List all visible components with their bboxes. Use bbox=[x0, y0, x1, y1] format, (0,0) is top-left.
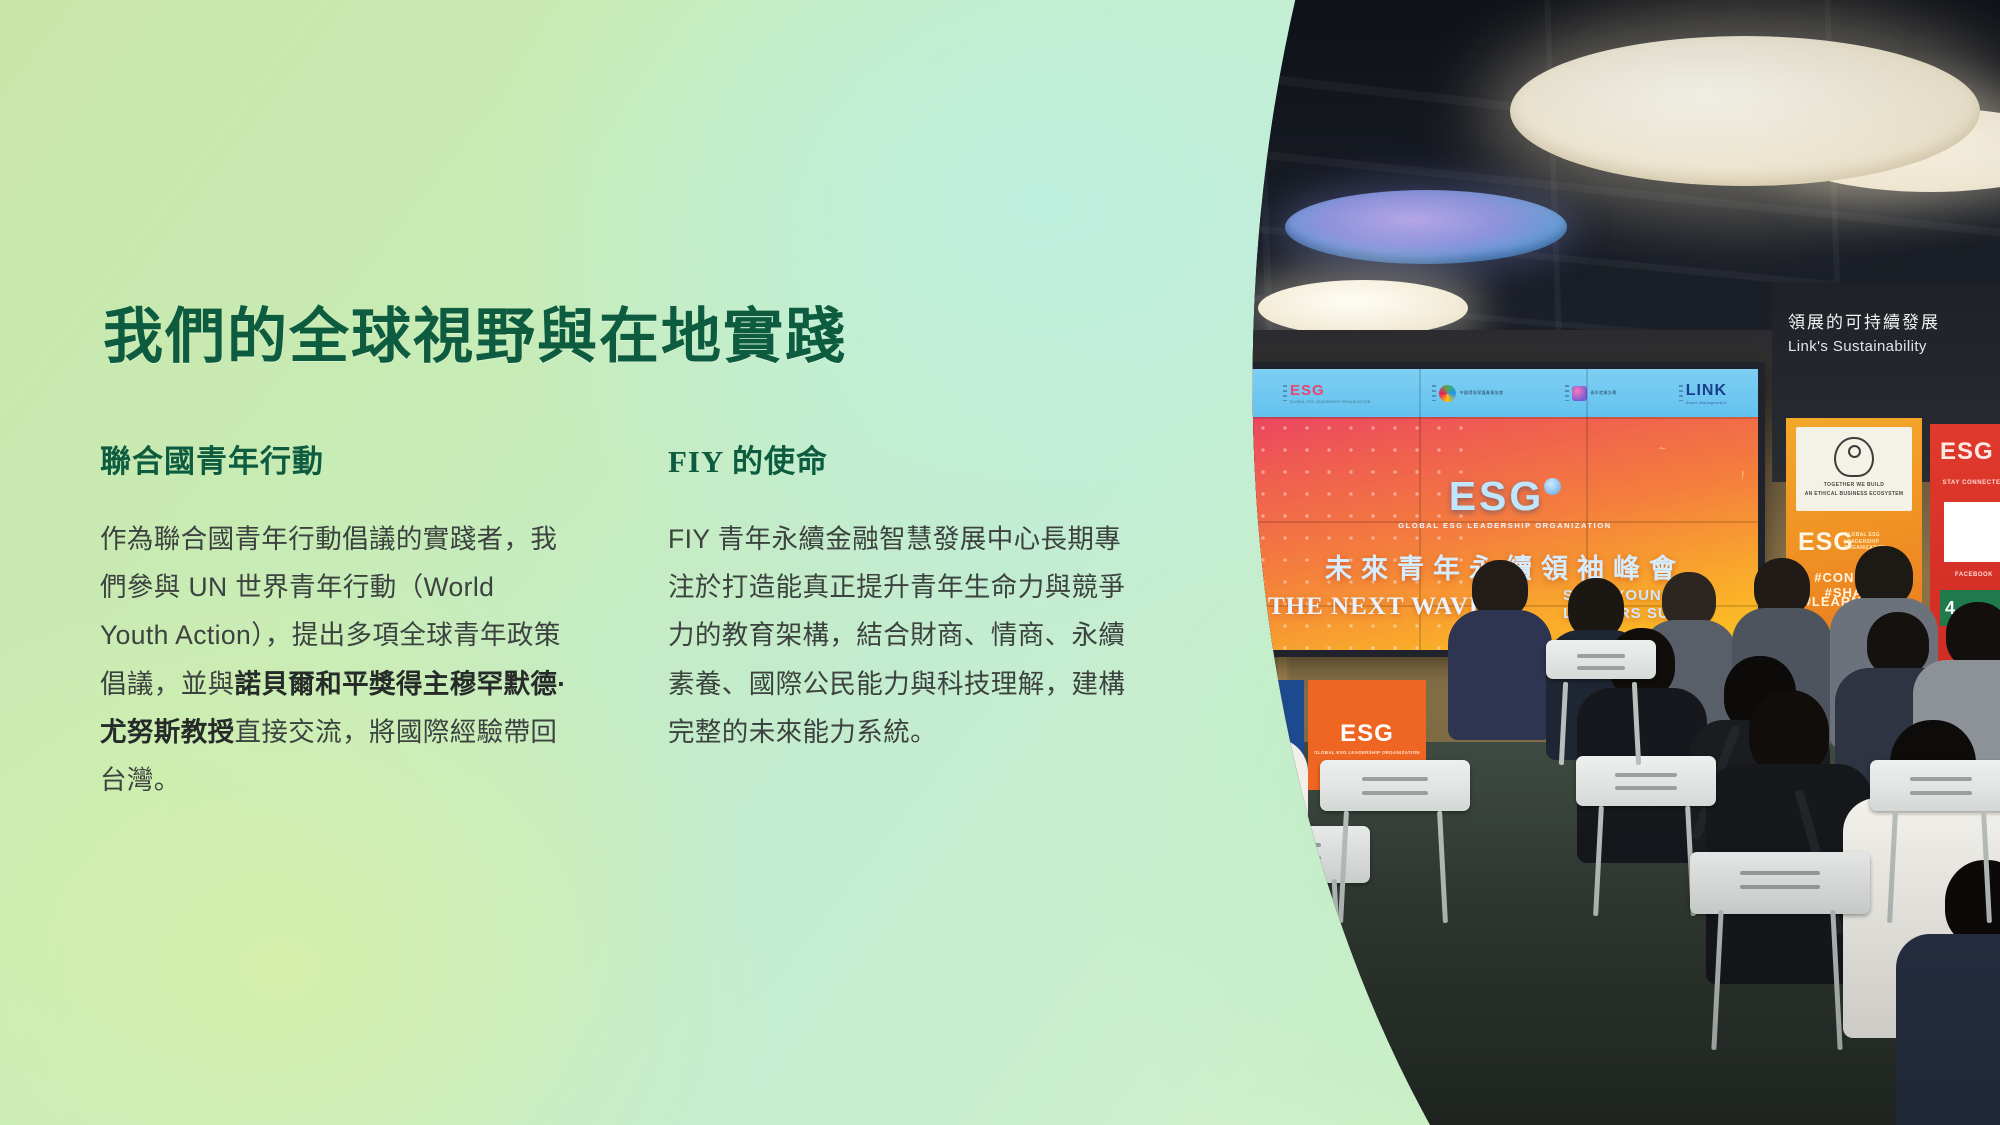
youth-program-logo-text: 青年就業計劃 bbox=[1590, 391, 1616, 396]
qr-code bbox=[1944, 502, 2000, 562]
esg-panel-sub: GLOBAL ESG LEADERSHIP ORGANIZATION bbox=[1308, 750, 1426, 755]
lightbulb-icon bbox=[1848, 445, 1861, 458]
folding-chair bbox=[1870, 760, 2000, 930]
link-board-cn: 領展的可持續發展 bbox=[1788, 308, 1940, 333]
column-body-part-1: FIY 青年永續金融智慧發展中心長期專注於打造能真正提升青年生命力與競爭力的教育… bbox=[668, 524, 1125, 747]
screen-title-en-left: THE NEXT WAVE bbox=[1268, 593, 1487, 621]
link-logo: LINK Asset Management bbox=[1679, 382, 1727, 405]
link-board-en: Link's Sustainability bbox=[1788, 338, 1927, 355]
column-title: FIY 的使命 bbox=[668, 436, 1168, 481]
globe-icon bbox=[1439, 385, 1456, 402]
text-content: 我們的全球視野與在地實踐 聯合國青年行動 作為聯合國青年行動倡議的實踐者，我們參… bbox=[100, 0, 1210, 1125]
china-association-logo: 中國環境保護產業協會 bbox=[1432, 385, 1503, 402]
red-banner-stay-connected: STAY CONNECTED bbox=[1930, 480, 2000, 486]
folding-chair bbox=[1690, 852, 1870, 1058]
audience-person bbox=[1460, 560, 1540, 730]
esg-logo-text: ESG bbox=[1290, 382, 1325, 399]
link-logo-text: LINK bbox=[1686, 382, 1727, 399]
red-banner-facebook: FACEBOOK bbox=[1930, 572, 2000, 578]
youth-program-logo: 青年就業計劃 bbox=[1565, 385, 1616, 401]
ceiling-light-small bbox=[1258, 280, 1468, 336]
esg-logo-sub: GLOBAL ESG LEADERSHIP ORGANIZATION bbox=[1290, 400, 1371, 404]
page-title: 我們的全球視野與在地實踐 bbox=[103, 288, 847, 375]
orange-banner-tagline-1: TOGETHER WE BUILD bbox=[1796, 482, 1912, 488]
esg-panel-brand: ESG bbox=[1308, 720, 1426, 748]
link-logo-sub: Asset Management bbox=[1686, 400, 1727, 405]
orange-banner-tagline-2: AN ETHICAL BUSINESS ECOSYSTEM bbox=[1796, 491, 1912, 497]
ceiling-light-large bbox=[1510, 36, 1980, 186]
ethos-card: TOGETHER WE BUILD AN ETHICAL BUSINESS EC… bbox=[1796, 427, 1912, 511]
column-fiy-mission: FIY 的使命 FIY 青年永續金融智慧發展中心長期專注於打造能真正提升青年生命… bbox=[668, 436, 1168, 804]
folding-chair bbox=[1320, 760, 1470, 930]
column-body: FIY 青年永續金融智慧發展中心長期專注於打造能真正提升青年生命力與競爭力的教育… bbox=[668, 515, 1138, 756]
column-title: 聯合國青年行動 bbox=[100, 436, 600, 481]
screen-esg-brand-sub: GLOBAL ESG LEADERSHIP ORGANIZATION bbox=[1252, 521, 1758, 530]
folding-chair bbox=[1546, 640, 1656, 770]
two-column-section: 聯合國青年行動 作為聯合國青年行動倡議的實踐者，我們參與 UN 世界青年行動（W… bbox=[100, 436, 1210, 804]
column-body: 作為聯合國青年行動倡議的實踐者，我們參與 UN 世界青年行動（World You… bbox=[100, 515, 570, 804]
red-banner-brand: ESG bbox=[1940, 438, 1994, 466]
sponsor-logo-bar: ESG GLOBAL ESG LEADERSHIP ORGANIZATION 中… bbox=[1252, 369, 1758, 417]
screen-esg-brand: ESG bbox=[1252, 473, 1758, 520]
slide-root: ESG GLOBAL ESG LEADERSHIP ORGANIZATION 中… bbox=[0, 0, 2000, 1125]
ceiling-light-purple bbox=[1285, 190, 1567, 264]
china-association-logo-text: 中國環境保護產業協會 bbox=[1459, 391, 1503, 396]
column-un-youth-action: 聯合國青年行動 作為聯合國青年行動倡議的實踐者，我們參與 UN 世界青年行動（W… bbox=[100, 436, 600, 804]
esg-logo: ESG GLOBAL ESG LEADERSHIP ORGANIZATION bbox=[1283, 382, 1371, 404]
